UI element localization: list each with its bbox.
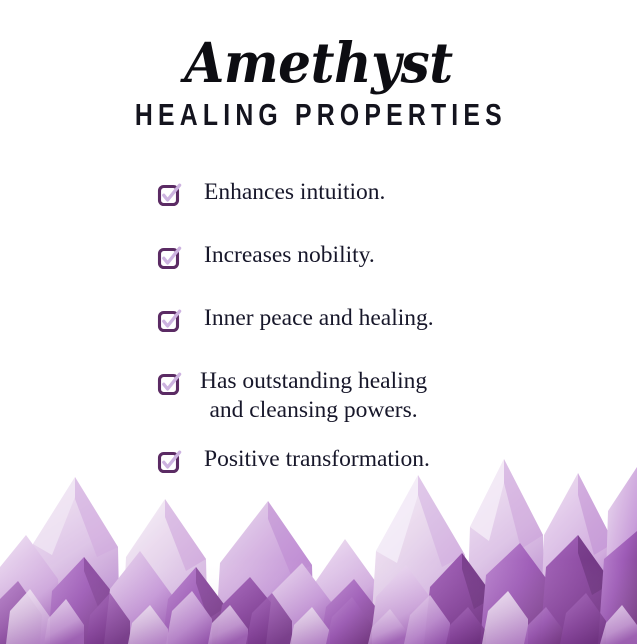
list-item-label: Increases nobility. — [204, 241, 375, 270]
checkbox-checked-icon[interactable] — [157, 245, 183, 271]
crystal-illustration — [0, 439, 637, 644]
list-item-label: Enhances intuition. — [204, 178, 385, 207]
poster-header: Amethyst HEALING PROPERTIES — [0, 0, 637, 132]
poster-canvas: Amethyst HEALING PROPERTIES Enhances int… — [0, 0, 637, 644]
list-item[interactable]: Increases nobility. — [0, 241, 637, 271]
list-item[interactable]: Enhances intuition. — [0, 178, 637, 208]
checkbox-checked-icon[interactable] — [157, 182, 183, 208]
page-title: Amethyst — [19, 34, 618, 92]
amethyst-crystal-cluster-photo — [0, 439, 637, 644]
list-item-label: Has outstanding healing and cleansing po… — [200, 367, 427, 425]
list-item-label: Inner peace and healing. — [204, 304, 434, 333]
checkbox-checked-icon[interactable] — [157, 308, 183, 334]
page-subtitle: HEALING PROPERTIES — [64, 98, 574, 132]
checkbox-checked-icon[interactable] — [157, 371, 183, 397]
list-item[interactable]: Has outstanding healing and cleansing po… — [0, 367, 637, 425]
list-item[interactable]: Inner peace and healing. — [0, 304, 637, 334]
healing-properties-list: Enhances intuition. Increases nobility. … — [0, 178, 637, 475]
